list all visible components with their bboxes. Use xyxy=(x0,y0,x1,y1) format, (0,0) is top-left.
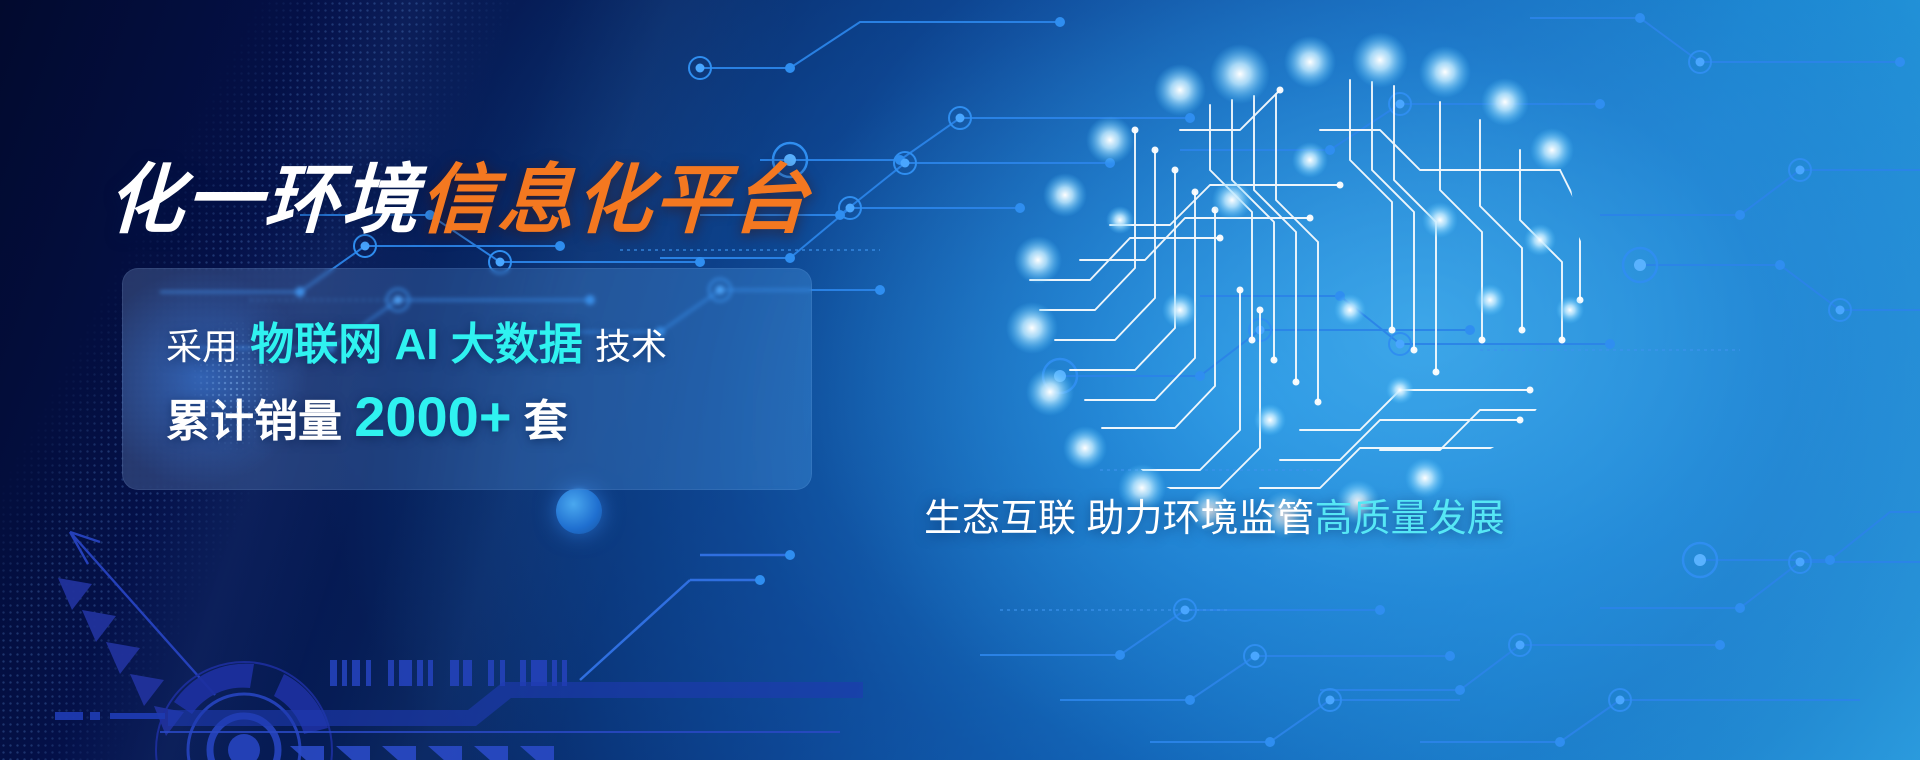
feature-line1-prefix: 采用 xyxy=(166,326,238,367)
feature-line-technology: 采用 物联网 AI 大数据 技术 xyxy=(166,308,667,372)
feature-line2-highlight: 2000+ xyxy=(354,385,511,448)
circuit-brain-graphic xyxy=(880,10,1680,550)
page-title: 化一环境信息化平台 xyxy=(106,138,812,248)
feature-line1-suffix: 技术 xyxy=(595,326,667,367)
title-white-part: 化一环境 xyxy=(106,158,421,243)
tagline-cyan-part: 高质量发展 xyxy=(1315,498,1505,540)
title-orange-part: 信息化平台 xyxy=(418,158,811,243)
banner-tagline: 生态互联 助力环境监管高质量发展 xyxy=(924,487,1505,542)
accent-node-circle xyxy=(556,488,602,534)
feature-card: 采用 物联网 AI 大数据 技术 累计销量 2000+ 套 xyxy=(122,268,812,490)
hud-decoration xyxy=(0,460,900,760)
tagline-white-part: 生态互联 助力环境监管 xyxy=(924,498,1315,540)
feature-line2-suffix: 套 xyxy=(524,397,568,446)
feature-line1-highlight: 物联网 AI 大数据 xyxy=(250,320,582,369)
feature-line2-prefix: 累计销量 xyxy=(166,397,342,446)
hero-banner: 化一环境信息化平台 采用 物联网 AI 大数据 技术 累计销量 2000+ 套 … xyxy=(0,0,1920,760)
feature-line-sales: 累计销量 2000+ 套 xyxy=(166,384,568,449)
